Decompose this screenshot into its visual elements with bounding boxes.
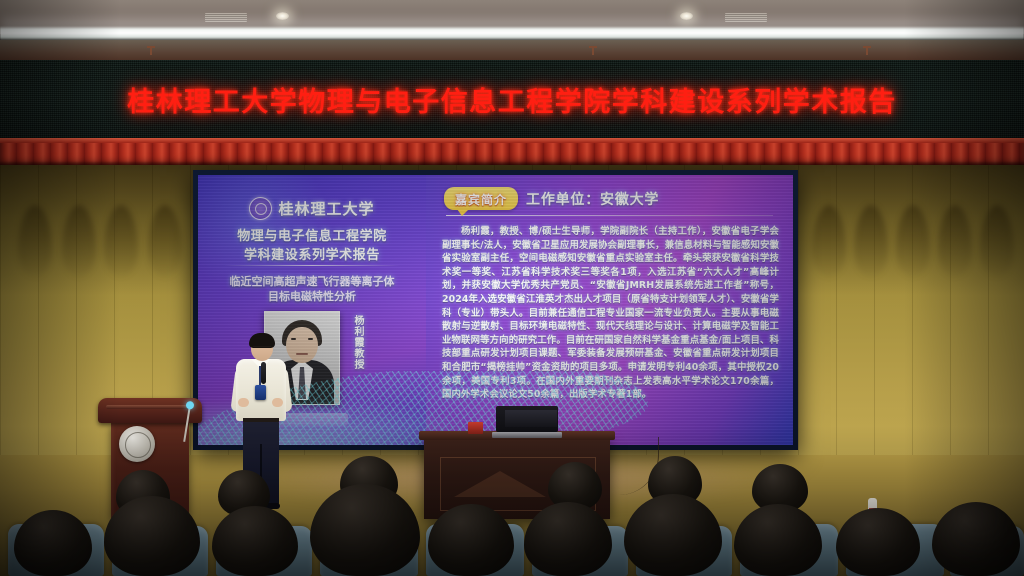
- audience-head: [310, 484, 420, 576]
- slide-topic: 临近空间高超声速飞行器等离子体 目标电磁特性分析: [204, 274, 420, 304]
- audience-head: [932, 502, 1020, 576]
- audience-head: [428, 504, 514, 576]
- presenter-belt: [243, 418, 279, 422]
- slide-bio-text: 杨利霞，教授、博/硕士生导师，学院副院长（主持工作），安徽省电子学会副理事长/法…: [442, 225, 779, 402]
- presenter-microphone-icon: [261, 362, 266, 384]
- laptop-base: [492, 432, 562, 438]
- portrait-eye-left: [291, 338, 296, 340]
- audience-head: [212, 506, 298, 576]
- slide-divider: [224, 265, 400, 266]
- presenter-badge: [255, 385, 266, 400]
- laptop-screen: [505, 410, 557, 427]
- wall-hook-2: [592, 46, 594, 55]
- audience-area: [0, 452, 1024, 576]
- presenter-glasses-icon: [253, 346, 271, 351]
- laptop-lid: [496, 406, 558, 432]
- university-seal-icon: [249, 197, 272, 220]
- lecture-hall-photo: 桂林理工大学物理与电子信息工程学院学科建设系列学术报告 桂林理工大学 物理与电子…: [0, 0, 1024, 576]
- slide-heading-row: 嘉宾简介 工作单位：安徽大学: [444, 187, 781, 210]
- slide-university-name: 桂林理工大学: [278, 198, 374, 219]
- portrait-eye-right: [308, 338, 313, 340]
- guest-intro-badge: 嘉宾简介: [444, 187, 518, 210]
- red-valance: [0, 138, 1024, 166]
- slide-right-panel: 嘉宾简介 工作单位：安徽大学 杨利霞，教授、博/硕士生导师，学院副院长（主持工作…: [426, 175, 793, 445]
- audience-head: [104, 496, 200, 576]
- wall-hook-1: [150, 46, 152, 55]
- audience-head: [524, 502, 612, 576]
- slide-college-name: 物理与电子信息工程学院: [198, 225, 426, 244]
- portrait-mouth: [296, 353, 308, 355]
- banner-text: 桂林理工大学物理与电子信息工程学院学科建设系列学术报告: [127, 80, 897, 119]
- slide-heading-divider: [446, 215, 773, 216]
- presenter-hand-left: [238, 398, 249, 407]
- audience-head: [14, 510, 92, 576]
- slide-topic-line-2: 目标电磁特性分析: [204, 289, 420, 304]
- wall-hook-3: [866, 46, 868, 55]
- slide-topic-line-1: 临近空间高超声速飞行器等离子体: [204, 274, 420, 289]
- led-banner: 桂林理工大学物理与电子信息工程学院学科建设系列学术报告: [0, 60, 1024, 140]
- audience-head: [624, 494, 722, 576]
- table-red-object: [468, 422, 483, 434]
- slide-affiliation: 工作单位：安徽大学: [526, 189, 659, 209]
- upper-wall: [0, 40, 1024, 62]
- slide-speaker-name: 杨利霞教授: [348, 315, 364, 370]
- ceiling-light-strip: [0, 26, 1024, 41]
- guest-intro-badge-label: 嘉宾简介: [455, 193, 507, 207]
- portrait-face: [286, 327, 318, 363]
- presenter-hand-right: [272, 398, 283, 407]
- audience-head: [836, 508, 920, 576]
- audience-head: [734, 504, 822, 576]
- slide-series-name: 学科建设系列学术报告: [198, 244, 426, 263]
- laptop: [492, 406, 562, 439]
- slide-university-row: 桂林理工大学: [198, 197, 426, 220]
